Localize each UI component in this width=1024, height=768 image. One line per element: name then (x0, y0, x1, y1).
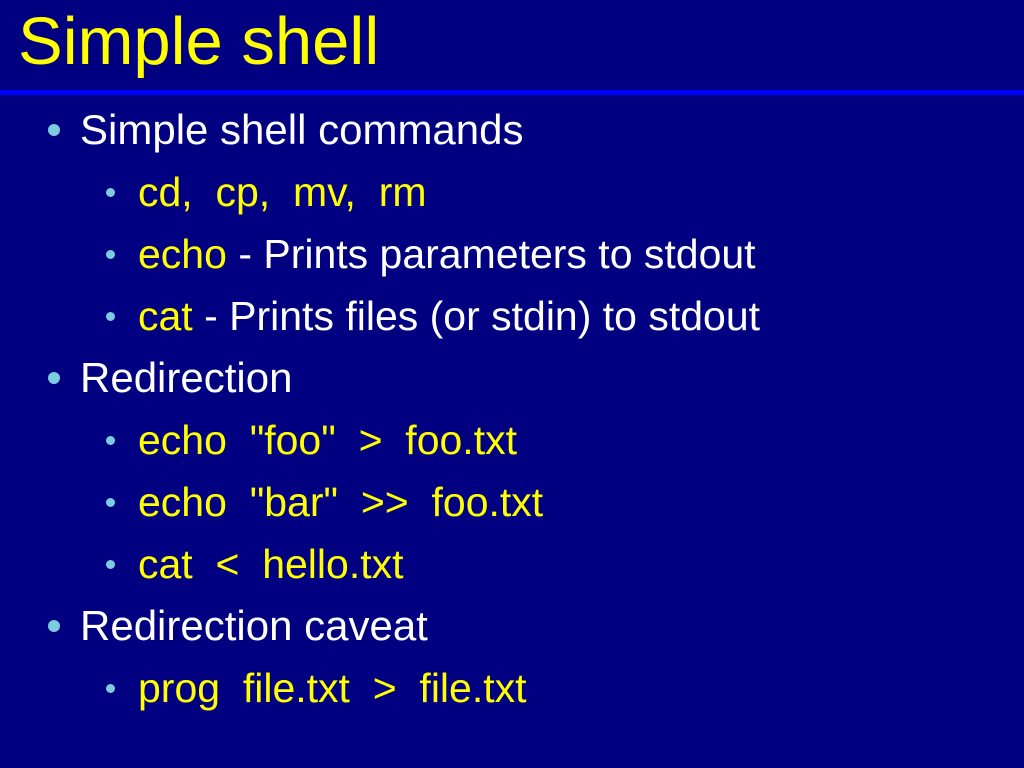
bullet-dot-icon (106, 250, 115, 259)
bullet-dot-icon (106, 188, 115, 197)
list-item-command: echo "foo" > foo.txt (138, 417, 517, 463)
bullet-dot-icon (106, 498, 115, 507)
list-item-command: echo "bar" >> foo.txt (138, 479, 543, 525)
slide-title-area: Simple shell (0, 0, 1024, 90)
list-item: cat - Prints files (or stdin) to stdout (0, 285, 1024, 347)
list-item-command: cat < hello.txt (138, 541, 404, 587)
list-item: echo "bar" >> foo.txt (0, 471, 1024, 533)
title-divider-rule (0, 90, 1024, 95)
bullet-dot-icon (48, 372, 60, 384)
slide: Simple shell Simple shell commands cd, c… (0, 0, 1024, 768)
list-item: prog file.txt > file.txt (0, 657, 1024, 719)
page-title: Simple shell (18, 0, 379, 86)
bullet-dot-icon (106, 312, 115, 321)
slide-body: Simple shell commands cd, cp, mv, rm ech… (0, 99, 1024, 768)
list-item: cat < hello.txt (0, 533, 1024, 595)
list-item: echo - Prints parameters to stdout (0, 223, 1024, 285)
list-item: cd, cp, mv, rm (0, 161, 1024, 223)
list-item: Redirection (0, 347, 1024, 409)
bullet-dot-icon (48, 620, 60, 632)
list-item: echo "foo" > foo.txt (0, 409, 1024, 471)
list-item-description: - Prints parameters to stdout (227, 231, 756, 277)
list-item-label: Redirection (80, 354, 292, 401)
bullet-dot-icon (48, 124, 60, 136)
list-item-command: prog file.txt > file.txt (138, 665, 527, 711)
list-item-command: echo (138, 231, 227, 277)
list-item-command: cd, cp, mv, rm (138, 169, 427, 215)
list-item-label: Redirection caveat (80, 602, 428, 649)
list-item-label: Simple shell commands (80, 106, 524, 153)
list-item-description: - Prints files (or stdin) to stdout (193, 293, 760, 339)
list-item: Redirection caveat (0, 595, 1024, 657)
bullet-dot-icon (106, 560, 115, 569)
bullet-dot-icon (106, 436, 115, 445)
list-item-command: cat (138, 293, 193, 339)
bullet-dot-icon (106, 684, 115, 693)
list-item: Simple shell commands (0, 99, 1024, 161)
